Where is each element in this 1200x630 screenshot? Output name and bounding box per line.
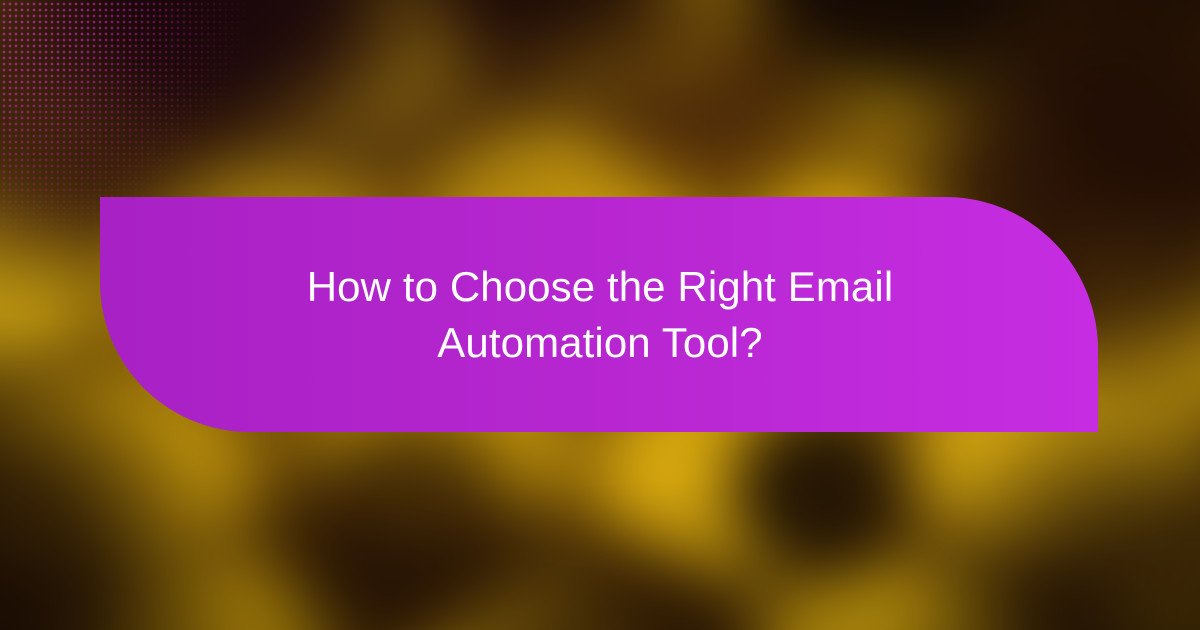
hero-card: How to Choose the Right Email Automation… bbox=[0, 0, 1200, 630]
page-title: How to Choose the Right Email Automation… bbox=[220, 259, 980, 371]
title-block: How to Choose the Right Email Automation… bbox=[150, 197, 1050, 432]
